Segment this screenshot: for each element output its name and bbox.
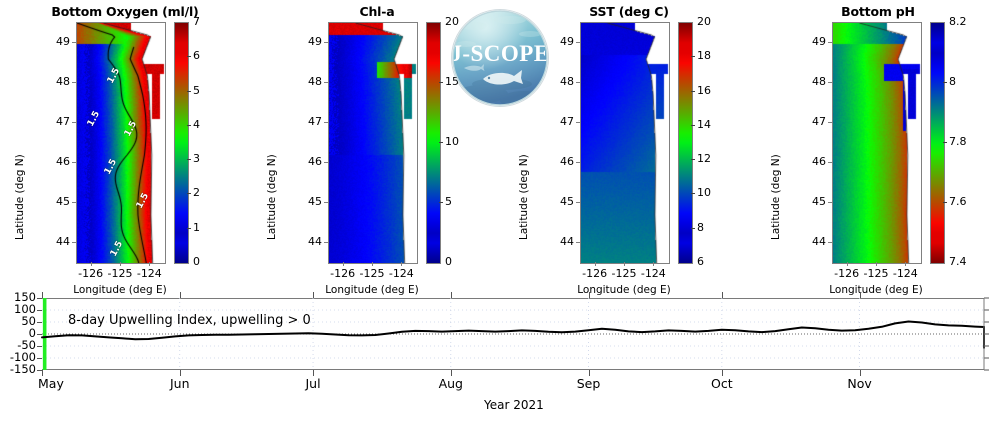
colorbar-bottom-ph	[930, 22, 945, 264]
colorbar-tickmark	[439, 202, 443, 203]
colorbar-tick-0: 0	[193, 255, 200, 268]
colorbar-tickmark	[187, 228, 191, 229]
latitude-tick-47: 47	[288, 115, 322, 128]
colorbar-tick-20: 20	[697, 15, 711, 28]
latitude-tickmark	[72, 82, 76, 83]
latitude-tickmark	[72, 202, 76, 203]
yaxis-label-sst: Latitude (deg N)	[518, 154, 530, 240]
latitude-tick-44: 44	[540, 235, 574, 248]
map-bottom-oxygen: 1.51.51.51.51.51.5	[76, 22, 166, 264]
colorbar-tick-5: 5	[193, 84, 200, 97]
colorbar-tickmark	[187, 56, 191, 57]
timeseries-xtick-sep: Sep	[567, 376, 611, 391]
timeseries-xtickmark	[589, 370, 590, 376]
timeseries-xtickmark-top	[42, 292, 43, 298]
timeseries-xtickmark-top	[722, 292, 723, 298]
timeseries-annotation: 8-day Upwelling Index, upwelling > 0	[68, 313, 311, 328]
latitude-tick-47: 47	[36, 115, 70, 128]
yaxis-label-bottom-ph: Latitude (deg N)	[770, 154, 782, 240]
latitude-tick-49: 49	[792, 35, 826, 48]
colorbar-tickmark	[691, 56, 695, 57]
latitude-tickmark	[828, 82, 832, 83]
latitude-tick-45: 45	[36, 195, 70, 208]
timeseries-xtickmark-top	[589, 292, 590, 298]
timeseries-xtickmark-top	[180, 292, 181, 298]
colorbar-tick-8: 8	[697, 221, 704, 234]
longitude-tickmark	[149, 262, 150, 266]
latitude-tick-48: 48	[540, 75, 574, 88]
timeseries-ytickmark	[37, 298, 42, 299]
latitude-tick-45: 45	[540, 195, 574, 208]
j-scope-forecast-figure: Bottom Oxygen (ml/l) Chl-a SST (deg C) B…	[0, 0, 1000, 424]
colorbar-tick-3: 3	[193, 152, 200, 165]
latitude-tickmark	[576, 202, 580, 203]
colorbar-tick-8: 8	[949, 75, 956, 88]
panel-title-chl-a: Chl-a	[252, 4, 502, 19]
longitude-tickmark	[372, 262, 373, 266]
longitude-tickmark	[847, 262, 848, 266]
latitude-tick-44: 44	[792, 235, 826, 248]
colorbar-tick-10: 10	[697, 186, 711, 199]
colorbar-tick-6: 6	[193, 49, 200, 62]
latitude-tickmark	[828, 122, 832, 123]
panel-title-sst: SST (deg C)	[504, 4, 754, 19]
latitude-tick-46: 46	[36, 155, 70, 168]
map-bottom-ph	[832, 22, 922, 264]
timeseries-xtickmark-top	[313, 292, 314, 298]
latitude-tickmark	[576, 242, 580, 243]
colorbar-tickmark	[691, 159, 695, 160]
colorbar-tick-20: 20	[445, 15, 459, 28]
map-canvas-bottom-oxygen	[77, 23, 165, 263]
timeseries-xtickmark	[722, 370, 723, 376]
timeseries-xtick-oct: Oct	[700, 376, 744, 391]
timeseries-xtick-nov: Nov	[838, 376, 882, 391]
latitude-tick-47: 47	[540, 115, 574, 128]
colorbar-tick-7-6: 7.6	[949, 195, 967, 208]
latitude-tickmark	[828, 242, 832, 243]
colorbar-tickmark	[691, 125, 695, 126]
map-chl-a	[328, 22, 418, 264]
longitude-tickmark	[595, 262, 596, 266]
latitude-tick-49: 49	[36, 35, 70, 48]
colorbar-tick-1: 1	[193, 221, 200, 234]
longitude-tickmark	[876, 262, 877, 266]
colorbar-tick-7: 7	[193, 15, 200, 28]
map-sst	[580, 22, 670, 264]
longitude-tick-neg124: -124	[379, 267, 423, 280]
longitude-tickmark	[401, 262, 402, 266]
timeseries-ytick-neg150: -150	[0, 362, 36, 376]
latitude-tickmark	[324, 42, 328, 43]
colorbar-tickmark	[691, 228, 695, 229]
latitude-tickmark	[324, 122, 328, 123]
colorbar-tickmark	[943, 202, 947, 203]
longitude-tickmark	[343, 262, 344, 266]
colorbar-tickmark	[187, 91, 191, 92]
latitude-tickmark	[576, 122, 580, 123]
timeseries-xtickmark	[313, 370, 314, 376]
colorbar-tick-4: 4	[193, 118, 200, 131]
j-scope-logo: J-SCOPE	[452, 10, 548, 106]
latitude-tick-44: 44	[36, 235, 70, 248]
colorbar-tickmark	[691, 91, 695, 92]
colorbar-tick-14: 14	[697, 118, 711, 131]
latitude-tickmark	[72, 242, 76, 243]
latitude-tickmark	[324, 82, 328, 83]
svg-text:J-SCOPE: J-SCOPE	[452, 41, 548, 66]
latitude-tickmark	[324, 242, 328, 243]
timeseries-xtickmark	[42, 370, 43, 376]
timeseries-ytickmark	[37, 322, 42, 323]
timeseries-xtick-jul: Jul	[291, 376, 335, 391]
map-canvas-sst	[581, 23, 669, 263]
longitude-tickmark	[91, 262, 92, 266]
colorbar-tick-16: 16	[697, 84, 711, 97]
latitude-tick-47: 47	[792, 115, 826, 128]
longitude-tick-neg124: -124	[127, 267, 171, 280]
colorbar-tickmark	[187, 125, 191, 126]
latitude-tickmark	[72, 42, 76, 43]
longitude-tickmark	[624, 262, 625, 266]
colorbar-tickmark	[439, 82, 443, 83]
longitude-tickmark	[905, 262, 906, 266]
latitude-tickmark	[576, 82, 580, 83]
longitude-tick-neg124: -124	[631, 267, 675, 280]
colorbar-tick-5: 5	[445, 195, 452, 208]
latitude-tick-45: 45	[288, 195, 322, 208]
timeseries-xtick-aug: Aug	[429, 376, 473, 391]
colorbar-chl-a	[426, 22, 441, 264]
latitude-tickmark	[828, 42, 832, 43]
latitude-tick-46: 46	[288, 155, 322, 168]
colorbar-tickmark	[187, 159, 191, 160]
colorbar-tickmark	[691, 193, 695, 194]
latitude-tickmark	[576, 162, 580, 163]
longitude-tickmark	[653, 262, 654, 266]
latitude-tick-48: 48	[792, 75, 826, 88]
panel-title-bottom-oxygen: Bottom Oxygen (ml/l)	[0, 4, 250, 19]
latitude-tickmark	[828, 202, 832, 203]
colorbar-tick-7-8: 7.8	[949, 135, 967, 148]
colorbar-tickmark	[943, 82, 947, 83]
colorbar-tick-12: 12	[697, 152, 711, 165]
colorbar-tick-8-2: 8.2	[949, 15, 967, 28]
timeseries-xtickmark	[860, 370, 861, 376]
latitude-tick-44: 44	[288, 235, 322, 248]
latitude-tick-46: 46	[792, 155, 826, 168]
latitude-tick-49: 49	[288, 35, 322, 48]
latitude-tick-48: 48	[288, 75, 322, 88]
colorbar-tick-7-4: 7.4	[949, 255, 967, 268]
latitude-tickmark	[72, 122, 76, 123]
colorbar-tick-18: 18	[697, 49, 711, 62]
longitude-tickmark	[120, 262, 121, 266]
map-canvas-bottom-ph	[833, 23, 921, 263]
latitude-tickmark	[72, 162, 76, 163]
timeseries-ytickmark	[37, 346, 42, 347]
latitude-tickmark	[324, 162, 328, 163]
yaxis-label-bottom-oxygen: Latitude (deg N)	[14, 154, 26, 240]
timeseries-xtickmark	[180, 370, 181, 376]
latitude-tick-46: 46	[540, 155, 574, 168]
map-canvas-chl-a	[329, 23, 417, 263]
colorbar-tick-2: 2	[193, 186, 200, 199]
timeseries-xtick-may: May	[38, 376, 64, 391]
timeseries-xtickmark-top	[451, 292, 452, 298]
colorbar-tickmark	[439, 142, 443, 143]
latitude-tickmark	[576, 42, 580, 43]
latitude-tickmark	[324, 202, 328, 203]
colorbar-tick-10: 10	[445, 135, 459, 148]
timeseries-xtick-jun: Jun	[158, 376, 202, 391]
colorbar-tickmark	[943, 142, 947, 143]
colorbar-tickmark	[187, 193, 191, 194]
latitude-tickmark	[828, 162, 832, 163]
yaxis-label-chl-a: Latitude (deg N)	[266, 154, 278, 240]
colorbar-tick-0: 0	[445, 255, 452, 268]
timeseries-ytickmark	[37, 310, 42, 311]
timeseries-xtickmark	[451, 370, 452, 376]
longitude-tick-neg124: -124	[883, 267, 927, 280]
timeseries-ytickmark	[37, 358, 42, 359]
latitude-tick-45: 45	[792, 195, 826, 208]
colorbar-tick-6: 6	[697, 255, 704, 268]
timeseries-xtickmark-top	[860, 292, 861, 298]
timeseries-xlabel: Year 2021	[484, 398, 544, 412]
latitude-tick-48: 48	[36, 75, 70, 88]
timeseries-ytickmark	[37, 334, 42, 335]
upwelling-index-timeseries: 8-day Upwelling Index, upwelling > 0 Yea…	[0, 290, 1000, 424]
